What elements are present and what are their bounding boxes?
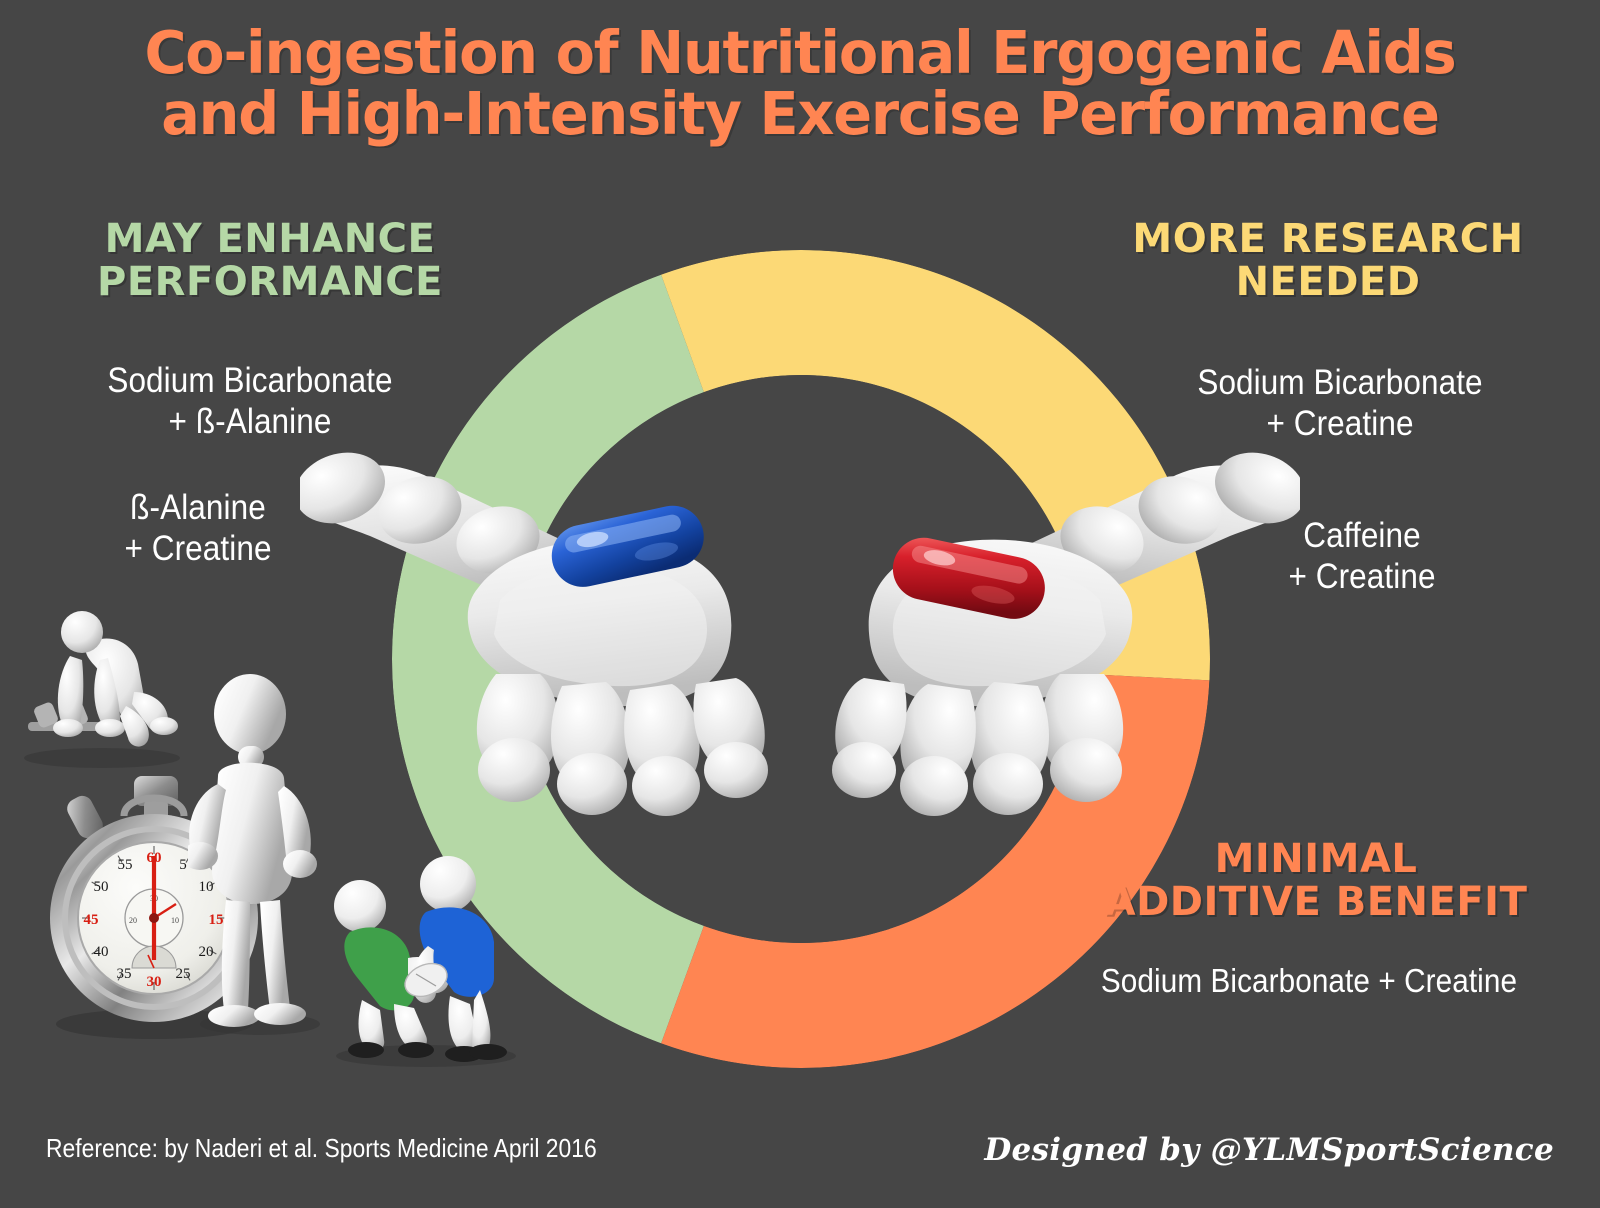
rugby-tackle-figures-illustration (322, 850, 522, 1070)
list-item-orange-1-line-1: Sodium Bicarbonate + Creatine (1089, 962, 1530, 1001)
sprinter-figure-illustration (10, 600, 200, 775)
svg-text:35: 35 (117, 966, 132, 982)
svg-text:55: 55 (118, 857, 133, 873)
list-item-yellow-1-line-1: Sodium Bicarbonate (1151, 362, 1529, 403)
list-item-green-1: Sodium Bicarbonate + ß-Alanine (61, 360, 439, 443)
reference-text: Reference: by Naderi et al. Sports Medic… (46, 1133, 597, 1164)
heading-orange-line-1: MINIMAL (1076, 838, 1556, 881)
left-hand (300, 441, 768, 816)
hands-with-capsules-illustration (300, 440, 1300, 830)
svg-text:50: 50 (94, 879, 109, 895)
heading-orange-line-2: ADDITIVE BENEFIT (1076, 881, 1556, 924)
heading-may-enhance-performance: MAY ENHANCE PERFORMANCE (40, 218, 500, 304)
svg-text:10: 10 (171, 916, 179, 925)
heading-green-line-2: PERFORMANCE (40, 261, 500, 304)
svg-text:40: 40 (94, 944, 109, 960)
list-item-green-1-line-2: + ß-Alanine (61, 401, 439, 442)
list-item-yellow-1: Sodium Bicarbonate + Creatine (1151, 362, 1529, 445)
svg-text:30: 30 (147, 974, 162, 990)
list-item-orange-1: Sodium Bicarbonate + Creatine (1089, 962, 1530, 1001)
standing-figure-illustration (188, 672, 338, 1042)
list-item-green-1-line-1: Sodium Bicarbonate (61, 360, 439, 401)
heading-more-research-needed: MORE RESEARCH NEEDED (1098, 218, 1558, 304)
heading-green-line-1: MAY ENHANCE (40, 218, 500, 261)
page-title: Co-ingestion of Nutritional Ergogenic Ai… (82, 22, 1518, 145)
infographic-poster: Co-ingestion of Nutritional Ergogenic Ai… (0, 0, 1600, 1208)
svg-text:5: 5 (179, 857, 187, 873)
heading-minimal-additive-benefit: MINIMAL ADDITIVE BENEFIT (1076, 838, 1556, 924)
title-line-1: Co-ingestion of Nutritional Ergogenic Ai… (82, 22, 1518, 83)
heading-yellow-line-1: MORE RESEARCH (1098, 218, 1558, 261)
designer-credit: Designed by @YLMSportScience (984, 1132, 1554, 1168)
svg-text:45: 45 (84, 912, 99, 928)
heading-yellow-line-2: NEEDED (1098, 261, 1558, 304)
list-item-yellow-1-line-2: + Creatine (1151, 403, 1529, 444)
right-hand (832, 441, 1300, 816)
svg-text:20: 20 (129, 916, 137, 925)
title-line-2: and High-Intensity Exercise Performance (82, 83, 1518, 144)
